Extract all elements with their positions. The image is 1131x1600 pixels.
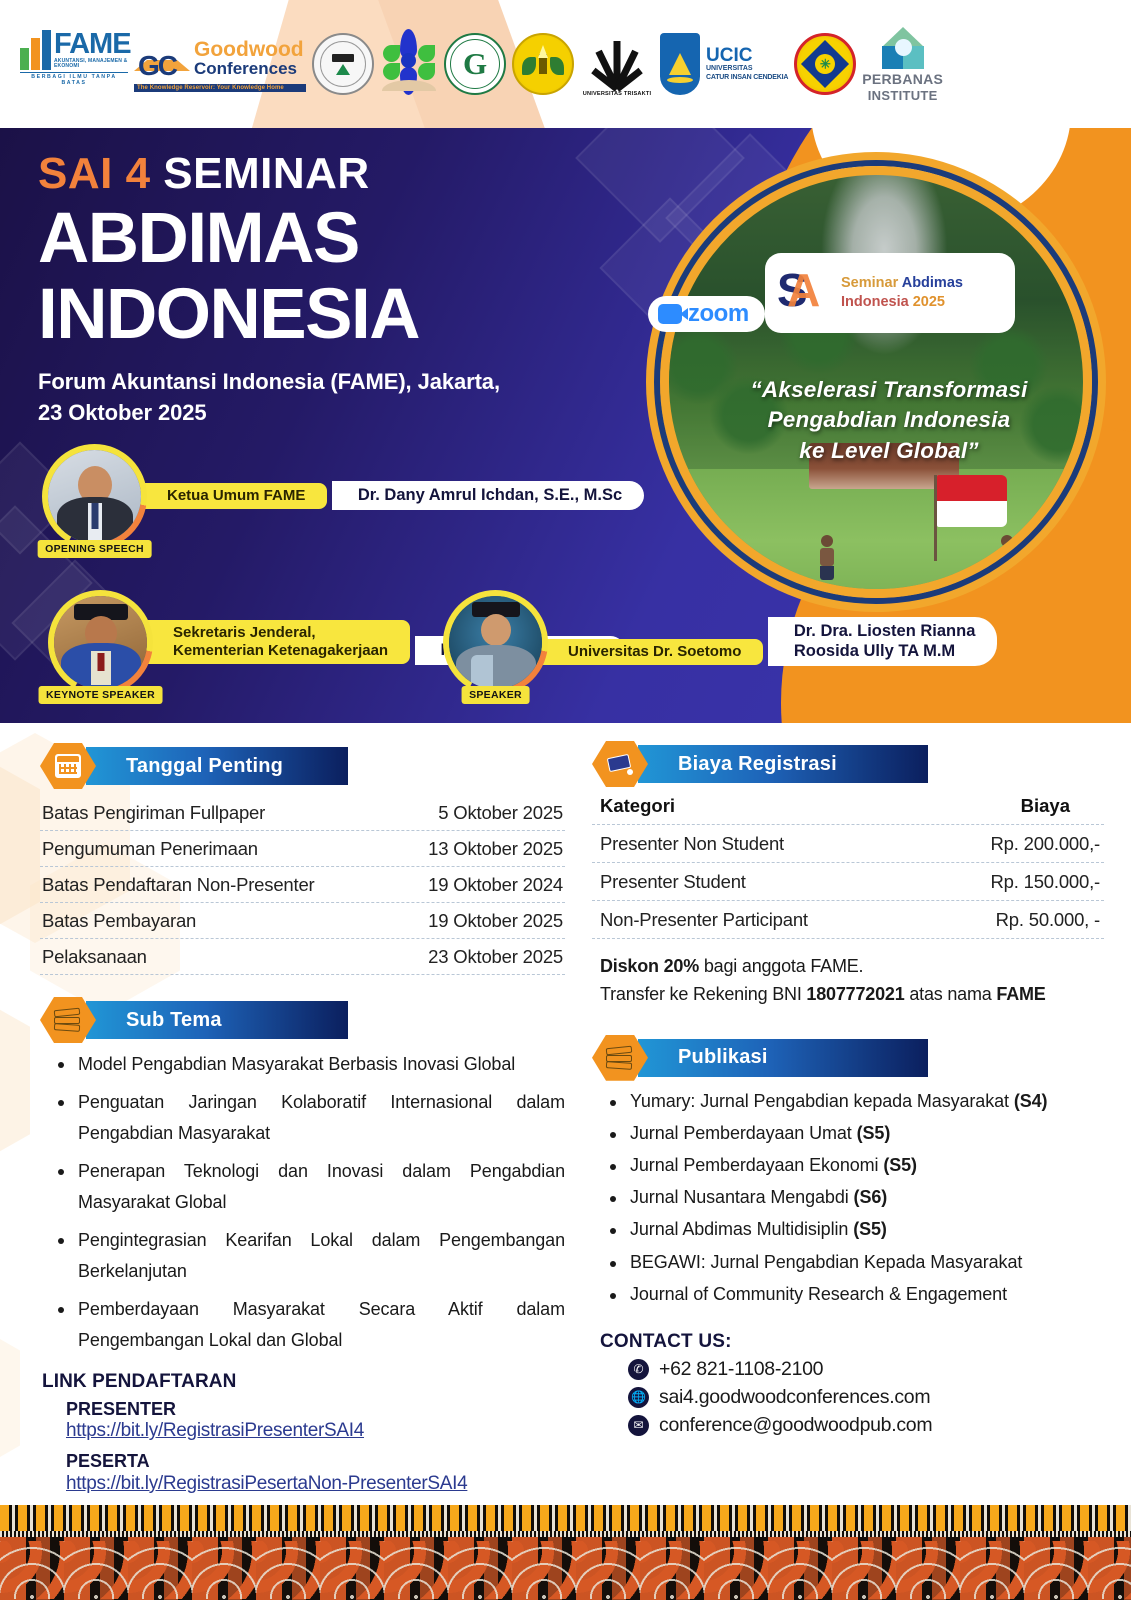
contact-email: conference@goodwoodpub.com	[659, 1414, 932, 1437]
zoom-camera-icon	[658, 304, 682, 324]
house-roof-icon: GC	[134, 36, 190, 82]
date-label: Batas Pendaftaran Non-Presenter	[42, 874, 315, 896]
date-label: Pelaksanaan	[42, 946, 147, 968]
section-subtheme: Sub Tema Model Pengabdian Masyarakat Ber…	[40, 997, 565, 1357]
badge-line1-part1: Seminar	[841, 275, 902, 291]
theme-photo-circle: SA Seminar Abdimas Indonesia 2025 “Aksel…	[660, 166, 1092, 598]
poster-body: Tanggal Penting Batas Pengiriman Fullpap…	[0, 723, 1131, 1506]
zoom-badge: zoom	[648, 296, 765, 332]
table-row: Pelaksanaan 23 Oktober 2025	[40, 939, 565, 975]
speaker-opening-speech: OPENING SPEECH Ketua Umum FAME Dr. Dany …	[42, 444, 644, 549]
bank-account-number: 1807772021	[806, 984, 904, 1004]
journal-name: BEGAWI: Jurnal Pengabdian Kepada Masyara…	[630, 1252, 1022, 1272]
contact-website: sai4.goodwoodconferences.com	[659, 1386, 930, 1409]
speaker-role: Sekretaris Jenderal, Kementerian Ketenag…	[147, 620, 410, 664]
event-kicker: SAI 4 SEMINAR	[38, 150, 500, 198]
avatar: KEYNOTE SPEAKER	[48, 590, 153, 695]
list-item: Penguatan Jaringan Kolaboratif Internasi…	[50, 1087, 565, 1150]
batik-wave-pattern	[0, 1541, 1131, 1599]
table-row: Batas Pembayaran 19 Oktober 2025	[40, 903, 565, 939]
fee-notes: Diskon 20% bagi anggota FAME. Transfer k…	[592, 953, 1104, 1009]
fee-amount: Rp. 200.000,-	[990, 833, 1100, 855]
date-label: Batas Pengiriman Fullpaper	[42, 802, 265, 824]
journal-name: Jurnal Nusantara Mengabdi	[630, 1187, 854, 1207]
poster-root: FAME AKUNTANSI, MANAJEMEN & EKONOMI BERB…	[0, 0, 1131, 1600]
goodwood-line1: Goodwood	[194, 39, 304, 60]
photo-child-left	[819, 535, 835, 579]
speaker-name: Dr. Dra. Liosten Rianna Roosida Ully TA …	[768, 617, 998, 667]
event-subtitle-line2: 23 Oktober 2025	[38, 397, 500, 429]
fee-header-amount: Biaya	[1021, 795, 1100, 817]
avatar: OPENING SPEECH	[42, 444, 147, 549]
goodwood-line2: Conferences	[194, 60, 304, 79]
universitas-trisakti-logo: UNIVERSITAS TRISAKTI	[580, 31, 654, 97]
section-registration-links: LINK PENDAFTARAN PRESENTER https://bit.l…	[40, 1371, 565, 1496]
list-item: Pengintegrasian Kearifan Lokal dalam Pen…	[50, 1225, 565, 1288]
avatar-photo	[54, 596, 147, 689]
sa-monogram-icon: SA	[775, 265, 833, 321]
hero-banner: SA Seminar Abdimas Indonesia 2025 “Aksel…	[0, 128, 1131, 723]
speaker-main: SPEAKER Universitas Dr. Soetomo Dr. Dra.…	[443, 590, 997, 695]
ucic-logo: UCIC UNIVERSITAS CATUR INSAN CENDEKIA	[660, 33, 788, 95]
event-title-line1: ABDIMAS	[38, 204, 500, 274]
badge-line1-part2: Abdimas	[902, 275, 963, 291]
event-title-line2: INDONESIA	[38, 280, 500, 350]
list-item: Model Pengabdian Masyarakat Berbasis Ino…	[50, 1049, 565, 1081]
fee-category: Presenter Non Student	[600, 833, 784, 855]
presenter-label: PRESENTER	[66, 1399, 565, 1420]
zoom-wordmark: zoom	[688, 300, 749, 328]
section-publication: Publikasi Yumary: Jurnal Pengabdian kepa…	[592, 1035, 1104, 1309]
avatar-photo	[449, 596, 542, 689]
contact-title: CONTACT US:	[600, 1331, 1104, 1353]
perbanas-line1: PERBANAS	[862, 72, 943, 86]
table-row: Pengumuman Penerimaan 13 Oktober 2025	[40, 831, 565, 867]
date-label: Batas Pembayaran	[42, 910, 196, 932]
event-edition: SAI 4	[38, 149, 151, 198]
fame-logo: FAME AKUNTANSI, MANAJEMEN & EKONOMI BERB…	[20, 30, 128, 98]
avatar-photo	[48, 450, 141, 543]
transfer-mid: atas nama	[905, 984, 997, 1004]
fee-category: Non-Presenter Participant	[600, 909, 808, 931]
flower-university-logo	[380, 31, 438, 97]
goodwood-tagline: The Knowledge Reservoir: Your Knowledge …	[134, 84, 306, 92]
list-item: Yumary: Jurnal Pengabdian kepada Masyara…	[602, 1087, 1104, 1116]
fame-wordmark: FAME	[54, 31, 131, 59]
contact-email-row[interactable]: ✉ conference@goodwoodpub.com	[600, 1414, 1104, 1437]
trisakti-label: UNIVERSITAS TRISAKTI	[583, 91, 652, 97]
journal-tier: (S6)	[854, 1187, 888, 1207]
journal-tier: (S5)	[857, 1123, 891, 1143]
journal-tier: (S5)	[853, 1219, 887, 1239]
event-subtitle-line1: Forum Akuntansi Indonesia (FAME), Jakart…	[38, 366, 500, 398]
journal-name: Jurnal Abdimas Multidisiplin	[630, 1219, 853, 1239]
badge-line2-part2: 2025	[913, 294, 945, 310]
discount-rest: bagi anggota FAME.	[699, 956, 863, 976]
speaker-role: Ketua Umum FAME	[141, 483, 327, 509]
speaker-name: Dr. Dany Amrul Ichdan, S.E., M.Sc	[332, 481, 644, 511]
goodwood-mark: GC	[138, 50, 176, 82]
table-header-row: Kategori Biaya	[592, 793, 1104, 825]
subtheme-list: Model Pengabdian Masyarakat Berbasis Ino…	[40, 1049, 565, 1357]
section-title-publication: Publikasi	[678, 1046, 768, 1069]
ucic-shield-icon	[660, 33, 700, 95]
date-label: Pengumuman Penerimaan	[42, 838, 258, 860]
stie-bhakti-pembangunan-logo	[312, 33, 374, 95]
contact-phone-row[interactable]: ✆ +62 821-1108-2100	[600, 1358, 1104, 1381]
peserta-label: PESERTA	[66, 1451, 565, 1472]
date-value: 23 Oktober 2025	[428, 946, 563, 968]
journal-name: Jurnal Pemberdayaan Ekonomi	[630, 1155, 883, 1175]
badge-line2-part1: Indonesia	[841, 294, 913, 310]
fame-tagline: BERBAGI ILMU TANPA BATAS	[20, 72, 128, 86]
phone-icon: ✆	[628, 1359, 649, 1380]
event-kicker-rest: SEMINAR	[151, 149, 370, 198]
speaker-tag: KEYNOTE SPEAKER	[38, 686, 163, 704]
table-row: Presenter Student Rp. 150.000,-	[592, 863, 1104, 901]
speaker-tag: OPENING SPEECH	[37, 540, 152, 558]
ucic-line2: CATUR INSAN CENDEKIA	[706, 74, 788, 83]
publication-list: Yumary: Jurnal Pengabdian kepada Masyara…	[592, 1087, 1104, 1309]
seminar-abdimas-badge: SA Seminar Abdimas Indonesia 2025	[765, 253, 1015, 333]
batik-footer-border	[0, 1505, 1131, 1600]
peserta-registration-link[interactable]: https://bit.ly/RegistrasiPesertaNon-Pres…	[66, 1472, 565, 1496]
presenter-registration-link[interactable]: https://bit.ly/RegistrasiPresenterSAI4	[66, 1419, 565, 1443]
section-title-dates: Tanggal Penting	[126, 755, 283, 778]
universitas-sang-bumi-ruwa-jurai-logo	[512, 33, 574, 95]
transfer-note: Transfer ke Rekening BNI 1807772021 atas…	[600, 981, 1104, 1009]
hero-text-block: SAI 4 SEMINAR ABDIMAS INDONESIA Forum Ak…	[38, 150, 500, 429]
fee-amount: Rp. 150.000,-	[990, 871, 1100, 893]
theme-quote: “Akselerasi Transformasi Pengabdian Indo…	[699, 375, 1079, 466]
fee-amount: Rp. 50.000, -	[996, 909, 1100, 931]
account-holder-name: FAME	[996, 984, 1045, 1004]
links-title: LINK PENDAFTARAN	[42, 1371, 565, 1393]
section-contact: CONTACT US: ✆ +62 821-1108-2100 🌐 sai4.g…	[592, 1331, 1104, 1437]
journal-tier: (S4)	[1014, 1091, 1048, 1111]
envelope-icon: ✉	[628, 1415, 649, 1436]
list-item: Penerapan Teknologi dan Inovasi dalam Pe…	[50, 1156, 565, 1219]
table-row: Batas Pendaftaran Non-Presenter 19 Oktob…	[40, 867, 565, 903]
discount-amount: Diskon 20%	[600, 956, 699, 976]
contact-phone: +62 821-1108-2100	[659, 1358, 823, 1381]
perbanas-line2: INSTITUTE	[868, 89, 938, 102]
partner-logo-strip: FAME AKUNTANSI, MANAJEMEN & EKONOMI BERB…	[0, 0, 1131, 128]
fee-header-category: Kategori	[600, 795, 675, 817]
journal-tier: (S5)	[883, 1155, 917, 1175]
batik-divider-rule	[0, 1531, 1131, 1537]
list-item: BEGAWI: Jurnal Pengabdian Kepada Masyara…	[602, 1248, 1104, 1277]
ucic-line1: UNIVERSITAS	[706, 65, 788, 74]
list-item: Pemberdayaan Masyarakat Secara Aktif dal…	[50, 1294, 565, 1357]
fee-category: Presenter Student	[600, 871, 746, 893]
date-value: 19 Oktober 2024	[428, 874, 563, 896]
stie-ganesha-logo: G	[444, 33, 506, 95]
list-item: Jurnal Pemberdayaan Ekonomi (S5)	[602, 1151, 1104, 1180]
section-registration-fee: Biaya Registrasi Kategori Biaya Presente…	[592, 741, 1104, 1009]
section-title-subtheme: Sub Tema	[126, 1009, 222, 1032]
list-item: Jurnal Abdimas Multidisiplin (S5)	[602, 1215, 1104, 1244]
fees-table: Kategori Biaya Presenter Non Student Rp.…	[592, 793, 1104, 939]
discount-note: Diskon 20% bagi anggota FAME.	[600, 953, 1104, 981]
star-crest-logo: ✳	[794, 33, 856, 95]
date-value: 13 Oktober 2025	[428, 838, 563, 860]
list-item: Jurnal Nusantara Mengabdi (S6)	[602, 1183, 1104, 1212]
goodwood-conferences-logo: GC Goodwood Conferences The Knowledge Re…	[134, 28, 306, 100]
left-column: Tanggal Penting Batas Pengiriman Fullpap…	[40, 743, 565, 1495]
avatar: SPEAKER	[443, 590, 548, 695]
journal-name: Journal of Community Research & Engageme…	[630, 1284, 1007, 1304]
date-value: 19 Oktober 2025	[428, 910, 563, 932]
speaker-role: Universitas Dr. Soetomo	[542, 639, 763, 665]
photo-indonesian-flag	[937, 475, 1007, 527]
dates-table: Batas Pengiriman Fullpaper 5 Oktober 202…	[40, 795, 565, 975]
journal-name: Jurnal Pemberdayaan Umat	[630, 1123, 857, 1143]
fame-subtext: AKUNTANSI, MANAJEMEN & EKONOMI	[54, 59, 131, 71]
batik-top-stripe	[0, 1505, 1131, 1531]
section-title-fees: Biaya Registrasi	[678, 753, 837, 776]
table-row: Non-Presenter Participant Rp. 50.000, -	[592, 901, 1104, 939]
table-row: Batas Pengiriman Fullpaper 5 Oktober 202…	[40, 795, 565, 831]
photo-child-right	[999, 535, 1015, 579]
fame-bar-chart-icon	[20, 30, 51, 70]
section-important-dates: Tanggal Penting Batas Pengiriman Fullpap…	[40, 743, 565, 975]
perbanas-institute-logo: PERBANAS INSTITUTE	[862, 27, 943, 102]
speaker-tag: SPEAKER	[461, 686, 530, 704]
ucic-acronym: UCIC	[706, 46, 788, 65]
globe-icon: 🌐	[628, 1387, 649, 1408]
transfer-prefix: Transfer ke Rekening BNI	[600, 984, 806, 1004]
contact-website-row[interactable]: 🌐 sai4.goodwoodconferences.com	[600, 1386, 1104, 1409]
date-value: 5 Oktober 2025	[438, 802, 563, 824]
list-item: Jurnal Pemberdayaan Umat (S5)	[602, 1119, 1104, 1148]
perbanas-cube-icon	[882, 27, 924, 69]
table-row: Presenter Non Student Rp. 200.000,-	[592, 825, 1104, 863]
list-item: Journal of Community Research & Engageme…	[602, 1280, 1104, 1309]
journal-name: Yumary: Jurnal Pengabdian kepada Masyara…	[630, 1091, 1014, 1111]
right-column: Biaya Registrasi Kategori Biaya Presente…	[592, 741, 1104, 1437]
